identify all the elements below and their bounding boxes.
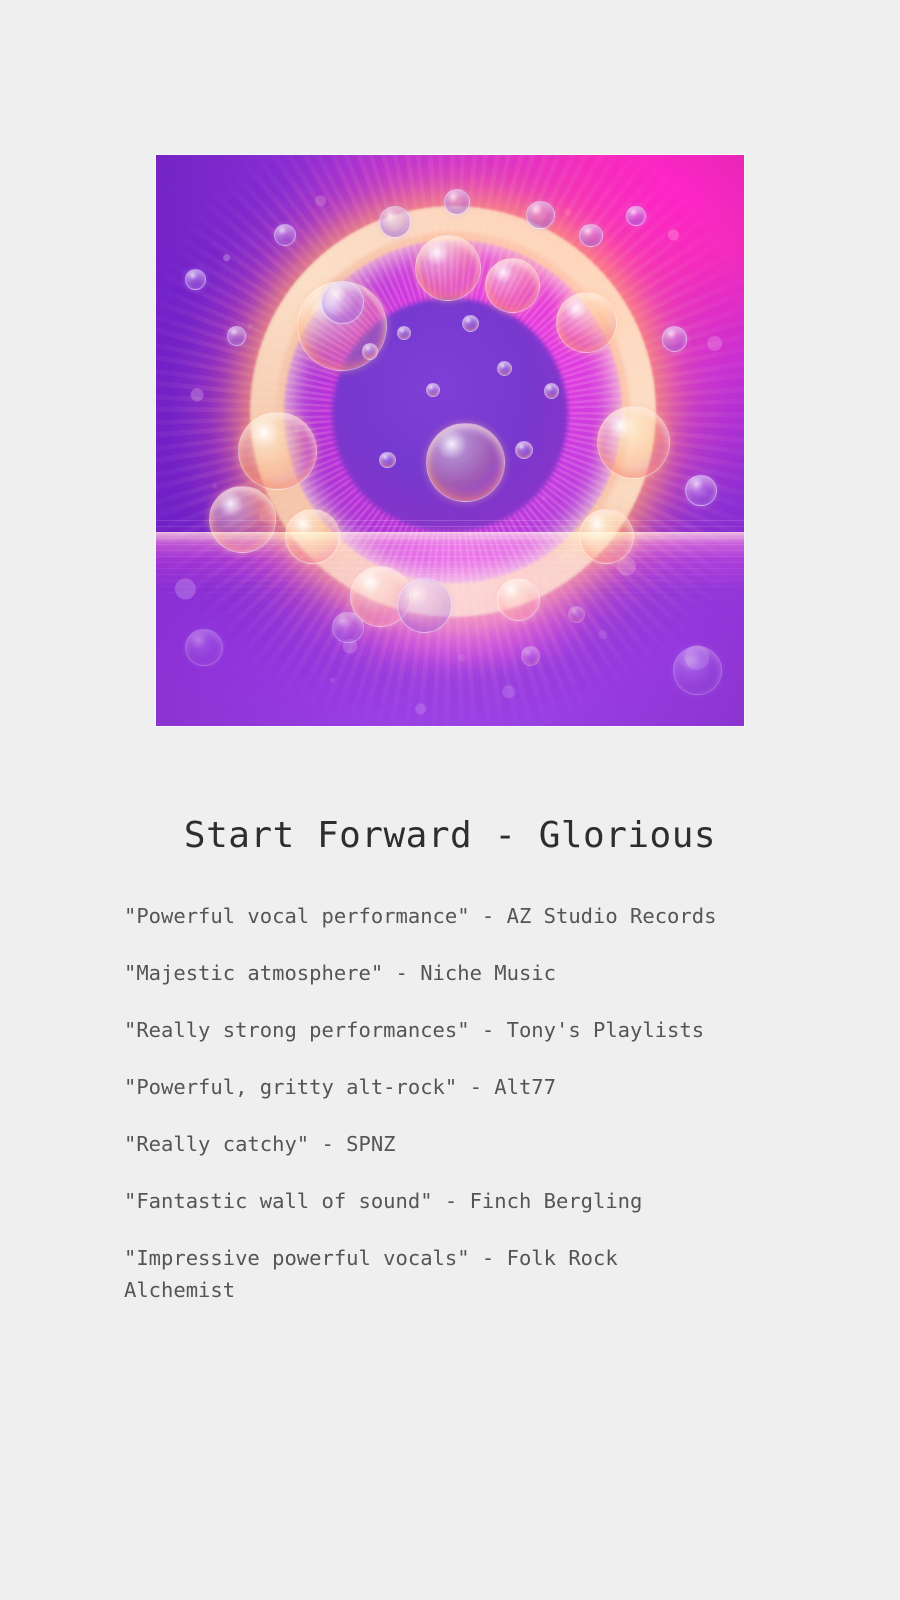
press-quote: "Powerful vocal performance" - AZ Studio… bbox=[124, 900, 724, 932]
press-quote: "Powerful, gritty alt-rock" - Alt77 bbox=[124, 1071, 724, 1103]
page-title: Start Forward - Glorious bbox=[0, 811, 900, 861]
art-vignette bbox=[156, 155, 744, 726]
press-quote: "Majestic atmosphere" - Niche Music bbox=[124, 957, 724, 989]
press-quote: "Really strong performances" - Tony's Pl… bbox=[124, 1014, 724, 1046]
press-quotes-page: Start Forward - Glorious "Powerful vocal… bbox=[0, 0, 900, 1600]
press-quote-list: "Powerful vocal performance" - AZ Studio… bbox=[124, 900, 724, 1306]
press-quote: "Impressive powerful vocals" - Folk Rock… bbox=[124, 1242, 724, 1306]
press-quote: "Really catchy" - SPNZ bbox=[124, 1128, 724, 1160]
album-cover-art bbox=[156, 155, 744, 726]
press-quote: "Fantastic wall of sound" - Finch Bergli… bbox=[124, 1185, 724, 1217]
